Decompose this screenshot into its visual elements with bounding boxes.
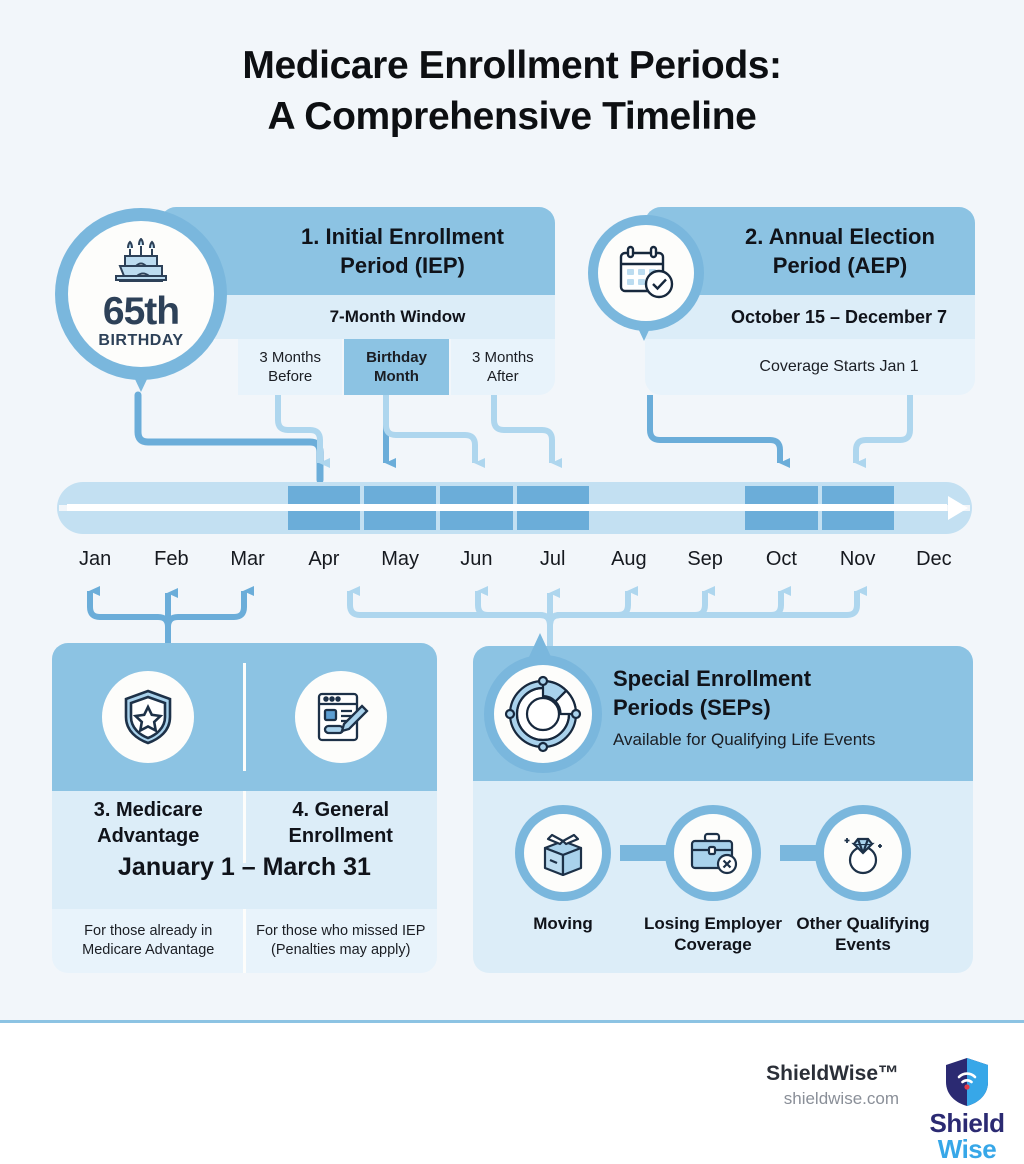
ma-ge-icon-row: [52, 643, 437, 791]
page-title-line1: Medicare Enrollment Periods:: [0, 40, 1024, 91]
aep-title-line1: 2. Annual Election: [705, 222, 975, 251]
month-label-feb: Feb: [133, 548, 209, 578]
card-medicare-advantage-general-enrollment[interactable]: 3. Medicare Advantage 4. General Enrollm…: [52, 643, 437, 973]
sep-item-losing-line1: Losing Employer: [644, 914, 782, 933]
ma-ge-divider-lower: [243, 791, 246, 863]
sep-item-losing-employer-coverage[interactable]: Losing Employer Coverage: [638, 805, 788, 955]
aep-badge: [588, 215, 704, 380]
sep-badge: [484, 655, 602, 773]
moving-box-icon: [538, 830, 588, 876]
sep-items-row: Moving: [488, 805, 958, 955]
ge-title-line2: Enrollment: [245, 823, 438, 849]
month-label-jul: Jul: [515, 548, 591, 578]
footer-brand-name: ShieldWise™: [766, 1062, 899, 1086]
iep-cell-after-line2: After: [487, 368, 519, 385]
sep-item-losing-label: Losing Employer Coverage: [638, 913, 788, 955]
sep-item-other-label: Other Qualifying Events: [788, 913, 938, 955]
timeline-bar[interactable]: [57, 482, 972, 534]
birthday-cake-icon: [112, 238, 170, 286]
logo-word-wise: Wise: [924, 1136, 1010, 1162]
month-label-sep: Sep: [667, 548, 743, 578]
sep-item-moving-label: Moving: [488, 913, 638, 934]
ma-ge-divider: [243, 663, 246, 771]
birthday-badge: 65th BIRTHDAY: [55, 208, 227, 438]
footer-brand-url[interactable]: shieldwise.com: [766, 1089, 899, 1109]
briefcase-x-icon: [688, 831, 738, 875]
iep-cell-after[interactable]: 3 Months After: [449, 339, 555, 395]
infographic-canvas: Medicare Enrollment Periods: A Comprehen…: [0, 0, 1024, 1154]
iep-cell-birthday-line2: Month: [374, 368, 419, 385]
sep-item-other-qualifying-events[interactable]: Other Qualifying Events: [788, 805, 938, 955]
wedding-ring-icon: [839, 828, 887, 878]
sep-title-line2: Periods (SEPs): [613, 693, 973, 722]
timeline-stem: [67, 504, 947, 511]
iep-cell-before-line2: Before: [268, 368, 312, 385]
month-label-nov: Nov: [820, 548, 896, 578]
aep-title-line2: Period (AEP): [705, 251, 975, 280]
month-label-oct: Oct: [743, 548, 819, 578]
sep-item-moving[interactable]: Moving: [488, 805, 638, 934]
life-ring-icon: [503, 674, 583, 754]
ge-title-line1: 4. General: [245, 797, 438, 823]
sep-item-other-line1: Other Qualifying: [796, 914, 929, 933]
footer-brand: ShieldWise™ shieldwise.com: [766, 1062, 899, 1109]
timeline-month-labels: JanFebMarAprMayJunJulAugSepOctNovDec: [57, 548, 972, 578]
sep-item-other-line2: Events: [835, 935, 891, 954]
logo-word-shield: Shield: [924, 1110, 1010, 1136]
birthday-badge-sublabel: BIRTHDAY: [98, 332, 183, 350]
timeline-arrow-icon: [948, 496, 968, 520]
document-pencil-icon: [295, 671, 387, 763]
iep-cell-birthday-month[interactable]: Birthday Month: [342, 339, 448, 395]
iep-cell-after-line1: 3 Months: [472, 349, 534, 366]
month-label-mar: Mar: [210, 548, 286, 578]
iep-cell-before-line1: 3 Months: [259, 349, 321, 366]
iep-title-line1: 1. Initial Enrollment: [250, 222, 555, 251]
month-label-dec: Dec: [896, 548, 972, 578]
ma-note: For those already in Medicare Advantage: [52, 909, 245, 973]
ma-title-line1: 3. Medicare: [52, 797, 245, 823]
ge-note: For those who missed IEP (Penalties may …: [245, 909, 438, 973]
calendar-check-icon: [615, 244, 677, 302]
month-label-jun: Jun: [438, 548, 514, 578]
page-title-line2: A Comprehensive Timeline: [0, 91, 1024, 142]
shield-star-icon: [102, 671, 194, 763]
sep-item-losing-line2: Coverage: [674, 935, 751, 954]
shield-wifi-icon: [924, 1056, 1010, 1108]
iep-cell-before[interactable]: 3 Months Before: [238, 339, 342, 395]
ma-ge-notes: For those already in Medicare Advantage …: [52, 909, 437, 973]
iep-title-line2: Period (IEP): [250, 251, 555, 280]
ma-ge-divider-notes: [243, 909, 246, 973]
sep-subtitle: Available for Qualifying Life Events: [613, 730, 973, 750]
month-label-apr: Apr: [286, 548, 362, 578]
month-label-may: May: [362, 548, 438, 578]
ma-ge-titles: 3. Medicare Advantage 4. General Enrollm…: [52, 791, 437, 909]
sep-title-line1: Special Enrollment: [613, 664, 973, 693]
page-title: Medicare Enrollment Periods: A Comprehen…: [0, 40, 1024, 142]
birthday-badge-number: 65th: [103, 292, 179, 332]
iep-cell-birthday-line1: Birthday: [366, 349, 427, 366]
shieldwise-logo[interactable]: Shield Wise: [924, 1056, 1010, 1154]
ma-title-line2: Advantage: [52, 823, 245, 849]
month-label-aug: Aug: [591, 548, 667, 578]
month-label-jan: Jan: [57, 548, 133, 578]
